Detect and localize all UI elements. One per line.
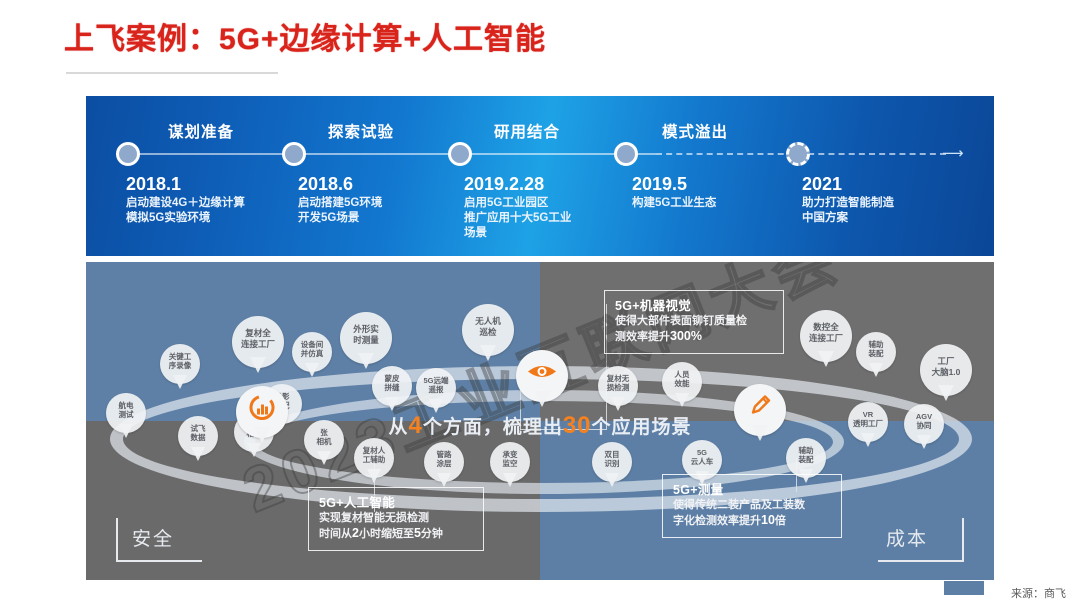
scenario-pin-label: 5G远端遥报 [410,376,462,394]
scenario-pin[interactable]: 设备间并仿真 [292,332,332,372]
scenario-pin[interactable]: 承变监空 [490,442,530,482]
timeline-node-4[interactable] [614,142,638,166]
pin-tail [938,385,954,401]
scenario-pin[interactable]: 复材全连接工厂 [232,316,284,368]
corner-label-cost: 成本 [886,524,928,551]
title-underline [66,72,278,74]
timeline-desc-3: 启用5G工业园区推广应用十大5G工业场景 [464,196,571,241]
center-number-aspects: 4 [408,412,422,439]
pin-tail [173,375,187,389]
scenario-pin[interactable]: 蒙皮拼缝 [372,366,412,406]
callout-body-line3: 倍 [775,515,786,527]
scenario-pin[interactable]: 管路涂层 [424,442,464,482]
eye-icon [527,361,557,386]
scenario-pin-label: 承变监空 [484,450,536,468]
timeline-year-5: 2021 [802,174,842,195]
pin-tail [818,351,834,367]
callout-body-line2: 字化检测效率提升 [673,515,761,527]
timeline-phase-3: 研用结合 [494,120,560,142]
scenario-pin-label: 辅助装配 [850,340,902,358]
pin-tail [605,473,619,487]
callout-title: 5G+测量 [673,482,831,498]
timeline-desc-1: 启动建设4G＋边缘计算模拟5G实验环境 [126,196,245,226]
timeline-banner: ⟶ 谋划准备 2018.1 启动建设4G＋边缘计算模拟5G实验环境 探索试验 2… [86,96,994,256]
corner-label-safety: 安全 [132,524,174,551]
scenario-pin-label: 人员效能 [656,370,708,388]
timeline-node-1[interactable] [116,142,140,166]
timeline-desc-4: 构建5G工业生态 [632,196,716,211]
center-number-scenarios: 30 [563,412,592,439]
callout-body: 使得传统二装产品及工装数 字化检测效率提升10倍 [673,498,831,529]
callout-body-line1: 使得大部件表面铆钉质量检 [615,315,747,327]
timeline-year-3: 2019.2.28 [464,174,544,195]
callout-body-line3: 小时缩短至 [359,528,414,540]
center-mid: 个方面，梳理出 [423,417,563,438]
timeline-desc-2: 启动搭建5G环境开发5G场景 [298,196,382,226]
pin-tail [503,473,517,487]
callout-machine-vision[interactable]: 5G+机器视觉 使得大部件表面铆钉质量检 测效率提升300% [604,290,784,354]
scenario-pin-label: 复材全连接工厂 [228,328,288,350]
callout-body: 实现复材智能无损检测 时间从2小时缩短至5分钟 [319,511,473,542]
bracket-left-horizontal [116,560,202,562]
scenario-pin[interactable]: 关键工序录像 [160,344,200,384]
callout-title: 5G+机器视觉 [615,298,773,314]
scenario-pin[interactable]: 数控全连接工厂 [800,310,852,362]
page-title: 上飞案例：5G+边缘计算+人工智能 [64,14,546,58]
scenario-pin-label: 复材人工辅助 [348,446,400,464]
pin-tail [480,345,496,361]
scenario-pin-label: 双目识别 [586,450,638,468]
scenario-diagram-panel: 2023工业互联网大会 航电测试关键工序录像试飞数据复材全连接工厂8K相机投影装… [86,262,994,580]
scenario-pin-label: 关键工序录像 [154,352,206,370]
pin-tail [869,363,883,377]
timeline-node-3[interactable] [448,142,472,166]
timeline-phase-2: 探索试验 [328,120,394,142]
center-statement: 从4个方面，梳理出30个应用场景 [86,412,994,440]
timeline-node-2[interactable] [282,142,306,166]
callout-metric: 10 [761,513,775,527]
scenario-pin-label: 工厂大脑1.0 [916,356,976,378]
scenario-pin-label: 设备间并仿真 [286,340,338,358]
timeline-year-2: 2018.6 [298,174,353,195]
pin-tail [611,397,625,411]
pin-tail [675,393,689,407]
callout-artificial-intelligence[interactable]: 5G+人工智能 实现复材智能无损检测 时间从2小时缩短至5分钟 [308,487,484,551]
scenario-pin-label: 无人机巡检 [458,316,518,338]
scenario-pin[interactable]: 复材人工辅助 [354,438,394,478]
timeline-year-1: 2018.1 [126,174,181,195]
bracket-left-vertical [116,518,118,562]
timeline-phase-4: 模式溢出 [662,120,728,142]
title-block: 上飞案例：5G+边缘计算+人工智能 [64,14,546,58]
scenario-pin[interactable]: 5G远端遥报 [416,368,456,408]
pin-tail [250,357,266,373]
scenario-pin-label: 复材无损检测 [592,374,644,392]
callout-metric-1: 2 [352,526,359,540]
callout-body: 使得大部件表面铆钉质量检 测效率提升300% [615,314,773,345]
scenario-pin[interactable]: 外形实时测量 [340,312,392,364]
bracket-right-vertical [962,518,964,562]
timeline-axis: ⟶ [116,153,964,155]
timeline-node-5[interactable] [786,142,810,166]
timeline-year-4: 2019.5 [632,174,687,195]
callout-title: 5G+人工智能 [319,495,473,511]
bracket-right-horizontal [878,560,964,562]
pin-tail [385,397,399,411]
pin-tail [247,443,261,457]
timeline-desc-5: 助力打造智能制造中国方案 [802,196,894,226]
scenario-pin[interactable]: 复材无损检测 [598,366,638,406]
scenario-pin[interactable]: 辅助装配 [856,332,896,372]
callout-metric-2: 5 [414,526,421,540]
pin-tail [534,391,550,407]
callout-metric: 300% [670,329,702,343]
center-prefix: 从 [388,417,408,438]
scenario-pin-label: 5G云人车 [676,448,728,466]
scenario-pin-label: 外形实时测量 [336,324,396,346]
pin-tail [305,363,319,377]
callout-body-line2: 测效率提升 [615,331,670,343]
pin-tail [429,399,443,413]
scenario-pin[interactable]: 无人机巡检 [462,304,514,356]
eye-icon-pin[interactable] [516,350,568,402]
pin-tail [437,473,451,487]
timeline-axis-solid [116,153,656,155]
callout-body-line1: 实现复材智能无损检测 [319,512,429,524]
callout-measurement[interactable]: 5G+测量 使得传统二装产品及工装数 字化检测效率提升10倍 [662,474,842,538]
scenario-pin[interactable]: 辅助装配 [786,438,826,478]
timeline-phase-1: 谋划准备 [168,120,234,142]
scenario-pin[interactable]: 人员效能 [662,362,702,402]
scenario-pin-label: 数控全连接工厂 [796,322,856,344]
pin-tail [191,447,205,461]
source-color-swatch [944,581,984,595]
callout-body-line1: 使得传统二装产品及工装数 [673,499,805,511]
pin-tail [317,451,331,465]
scenario-pin[interactable]: 双目识别 [592,442,632,482]
scenario-pin[interactable]: 工厂大脑1.0 [920,344,972,396]
pin-tail [367,469,381,483]
callout-body-line2: 时间从 [319,528,352,540]
source-attribution: 来源：商飞 [1011,585,1066,601]
callout-body-line4: 分钟 [421,528,443,540]
center-suffix: 个应用场景 [592,417,692,438]
scenario-pin-label: 辅助装配 [780,446,832,464]
scenario-pin-label: 管路涂层 [418,450,470,468]
